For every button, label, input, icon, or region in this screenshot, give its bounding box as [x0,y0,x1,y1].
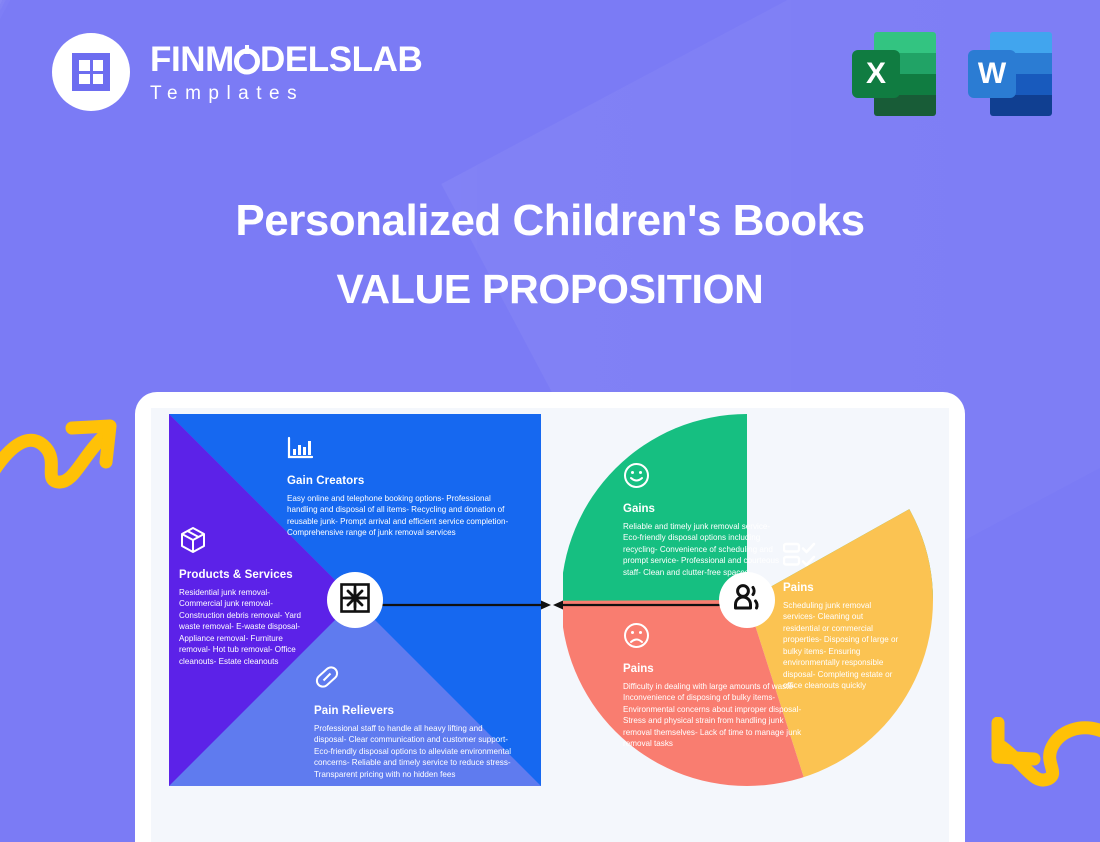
segment-gain-creators[interactable]: Gain Creators Easy online and telephone … [287,436,511,539]
brand-name-part1: FINM [150,40,234,79]
segment-products-services[interactable]: Products & Services Residential junk rem… [179,526,311,667]
segment-gains[interactable]: Gains Reliable and timely junk removal s… [623,462,785,578]
double-headed-arrow-connector [355,598,747,612]
segment-body: Difficulty in dealing with large amounts… [623,681,803,750]
package-box-icon [179,526,311,559]
segment-title: Pain Relievers [314,705,514,717]
word-badge-letter: W [968,50,1016,98]
brand-name-o [234,42,260,77]
segment-title: Pains [783,582,899,594]
segment-pain-relievers[interactable]: Pain Relievers Professional staff to han… [314,664,514,780]
grid-squares-icon [72,53,110,91]
value-map-hub[interactable] [327,572,383,628]
segment-body: Residential junk removal- Commercial jun… [179,587,311,667]
page-root: FINMDELSLAB Templates X W Personalized C… [0,0,1100,842]
brand-name: FINMDELSLAB [150,42,422,77]
segment-title: Products & Services [179,569,311,581]
squiggle-arrow-down-left-icon [968,717,1100,814]
office-format-icons: X W [852,32,1052,116]
segment-pains-bottom[interactable]: Pains Difficulty in dealing with large a… [623,622,803,750]
pill-capsule-icon [314,664,514,695]
segment-body: Easy online and telephone booking option… [287,493,511,539]
brand-subtitle: Templates [150,84,422,103]
gift-box-icon [338,581,372,620]
segment-title: Gain Creators [287,475,511,487]
brand-mark-circle [52,33,130,111]
value-proposition-canvas: Gain Creators Easy online and telephone … [151,408,949,842]
segment-title: Gains [623,503,785,515]
laptop-device-frame: Gain Creators Easy online and telephone … [135,392,965,842]
brand-logo[interactable]: FINMDELSLAB Templates [52,33,422,111]
microsoft-word-icon[interactable]: W [968,32,1052,116]
squiggle-arrow-up-right-icon [0,404,119,501]
brand-name-part2: DELSLAB [260,40,422,79]
segment-title: Pains [623,663,803,675]
title-block: Personalized Children's Books VALUE PROP… [0,196,1100,313]
brand-text: FINMDELSLAB Templates [150,42,422,103]
users-people-icon [730,581,764,620]
smiley-happy-face-icon [623,462,785,494]
customer-profile-hub[interactable] [719,572,775,628]
segment-body: Reliable and timely junk removal service… [623,521,785,578]
checklist-tasks-icon [783,542,899,573]
smiley-sad-face-icon [623,622,803,654]
device-screen: Gain Creators Easy online and telephone … [151,408,949,842]
excel-badge-letter: X [852,50,900,98]
microsoft-excel-icon[interactable]: X [852,32,936,116]
page-subtitle: VALUE PROPOSITION [0,266,1100,313]
segment-body: Professional staff to handle all heavy l… [314,723,514,780]
page-title: Personalized Children's Books [0,196,1100,246]
bar-chart-icon [287,436,511,465]
